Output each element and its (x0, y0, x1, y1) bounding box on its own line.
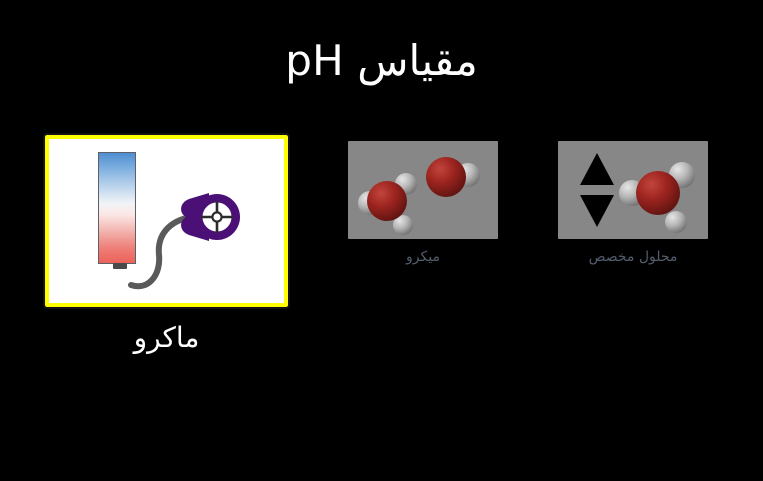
page-title: مقياس pH (0, 34, 763, 88)
screen-thumbnail-macro[interactable] (45, 135, 288, 307)
ph-probe-icon (49, 139, 284, 303)
screen-thumbnail-micro[interactable] (348, 141, 498, 239)
screen-thumbnail-my-solution[interactable] (558, 141, 708, 239)
spinner-arrows-icon (580, 153, 614, 227)
molecules-svg (348, 141, 498, 239)
home-screen-root: مقياس pH (0, 0, 763, 481)
screen-card-macro[interactable]: ماكرو (45, 130, 288, 355)
screen-card-label-macro: ماكرو (134, 321, 200, 355)
my-solution-svg (558, 141, 708, 239)
spinner-hydronium-icon (558, 141, 708, 239)
screen-card-label-micro: ميكرو (406, 248, 440, 266)
screen-selection-row: ماكرو (0, 130, 763, 360)
screen-card-my-solution[interactable]: محلول مخصص (558, 130, 708, 266)
ph-meter-probe-icon (49, 139, 284, 303)
screen-card-micro[interactable]: ميكرو (348, 130, 498, 266)
screen-card-label-my-solution: محلول مخصص (589, 248, 678, 266)
hydronium-hydroxide-molecules-icon (348, 141, 498, 239)
